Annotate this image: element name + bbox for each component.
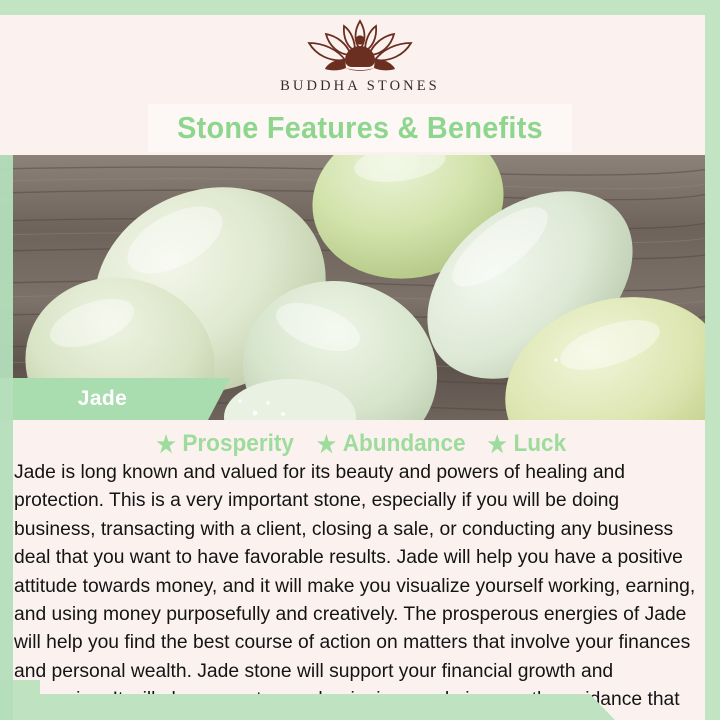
lotus-meditation-icon (285, 15, 435, 77)
title-banner: Stone Features & Benefits (148, 104, 572, 152)
brand-logo: BUDDHA STONES (0, 15, 720, 110)
description-text: Jade is long known and valued for its be… (14, 459, 704, 720)
frame-left (0, 155, 13, 720)
keyword-prosperity: ★ Prosperity (156, 430, 294, 458)
star-icon: ★ (317, 433, 336, 456)
keyword-label: Prosperity (182, 430, 294, 458)
keyword-label: Abundance (343, 430, 466, 458)
star-icon: ★ (156, 433, 175, 456)
stone-info-poster: Jade BUDDHA STONES Stone Feat (0, 0, 720, 720)
keyword-label: Luck (513, 430, 566, 458)
frame-top (0, 0, 720, 15)
brand-name: BUDDHA STONES (280, 78, 440, 95)
keyword-luck: ★ Luck (487, 430, 566, 458)
keyword-list: ★ Prosperity ★ Abundance ★ Luck (0, 428, 720, 460)
frame-right (705, 0, 720, 720)
star-icon: ★ (487, 433, 506, 456)
page-title: Stone Features & Benefits (163, 104, 557, 152)
keyword-abundance: ★ Abundance (317, 430, 466, 458)
stone-description: Jade is long known and valued for its be… (14, 459, 704, 720)
stone-name-label: Jade (0, 378, 205, 420)
